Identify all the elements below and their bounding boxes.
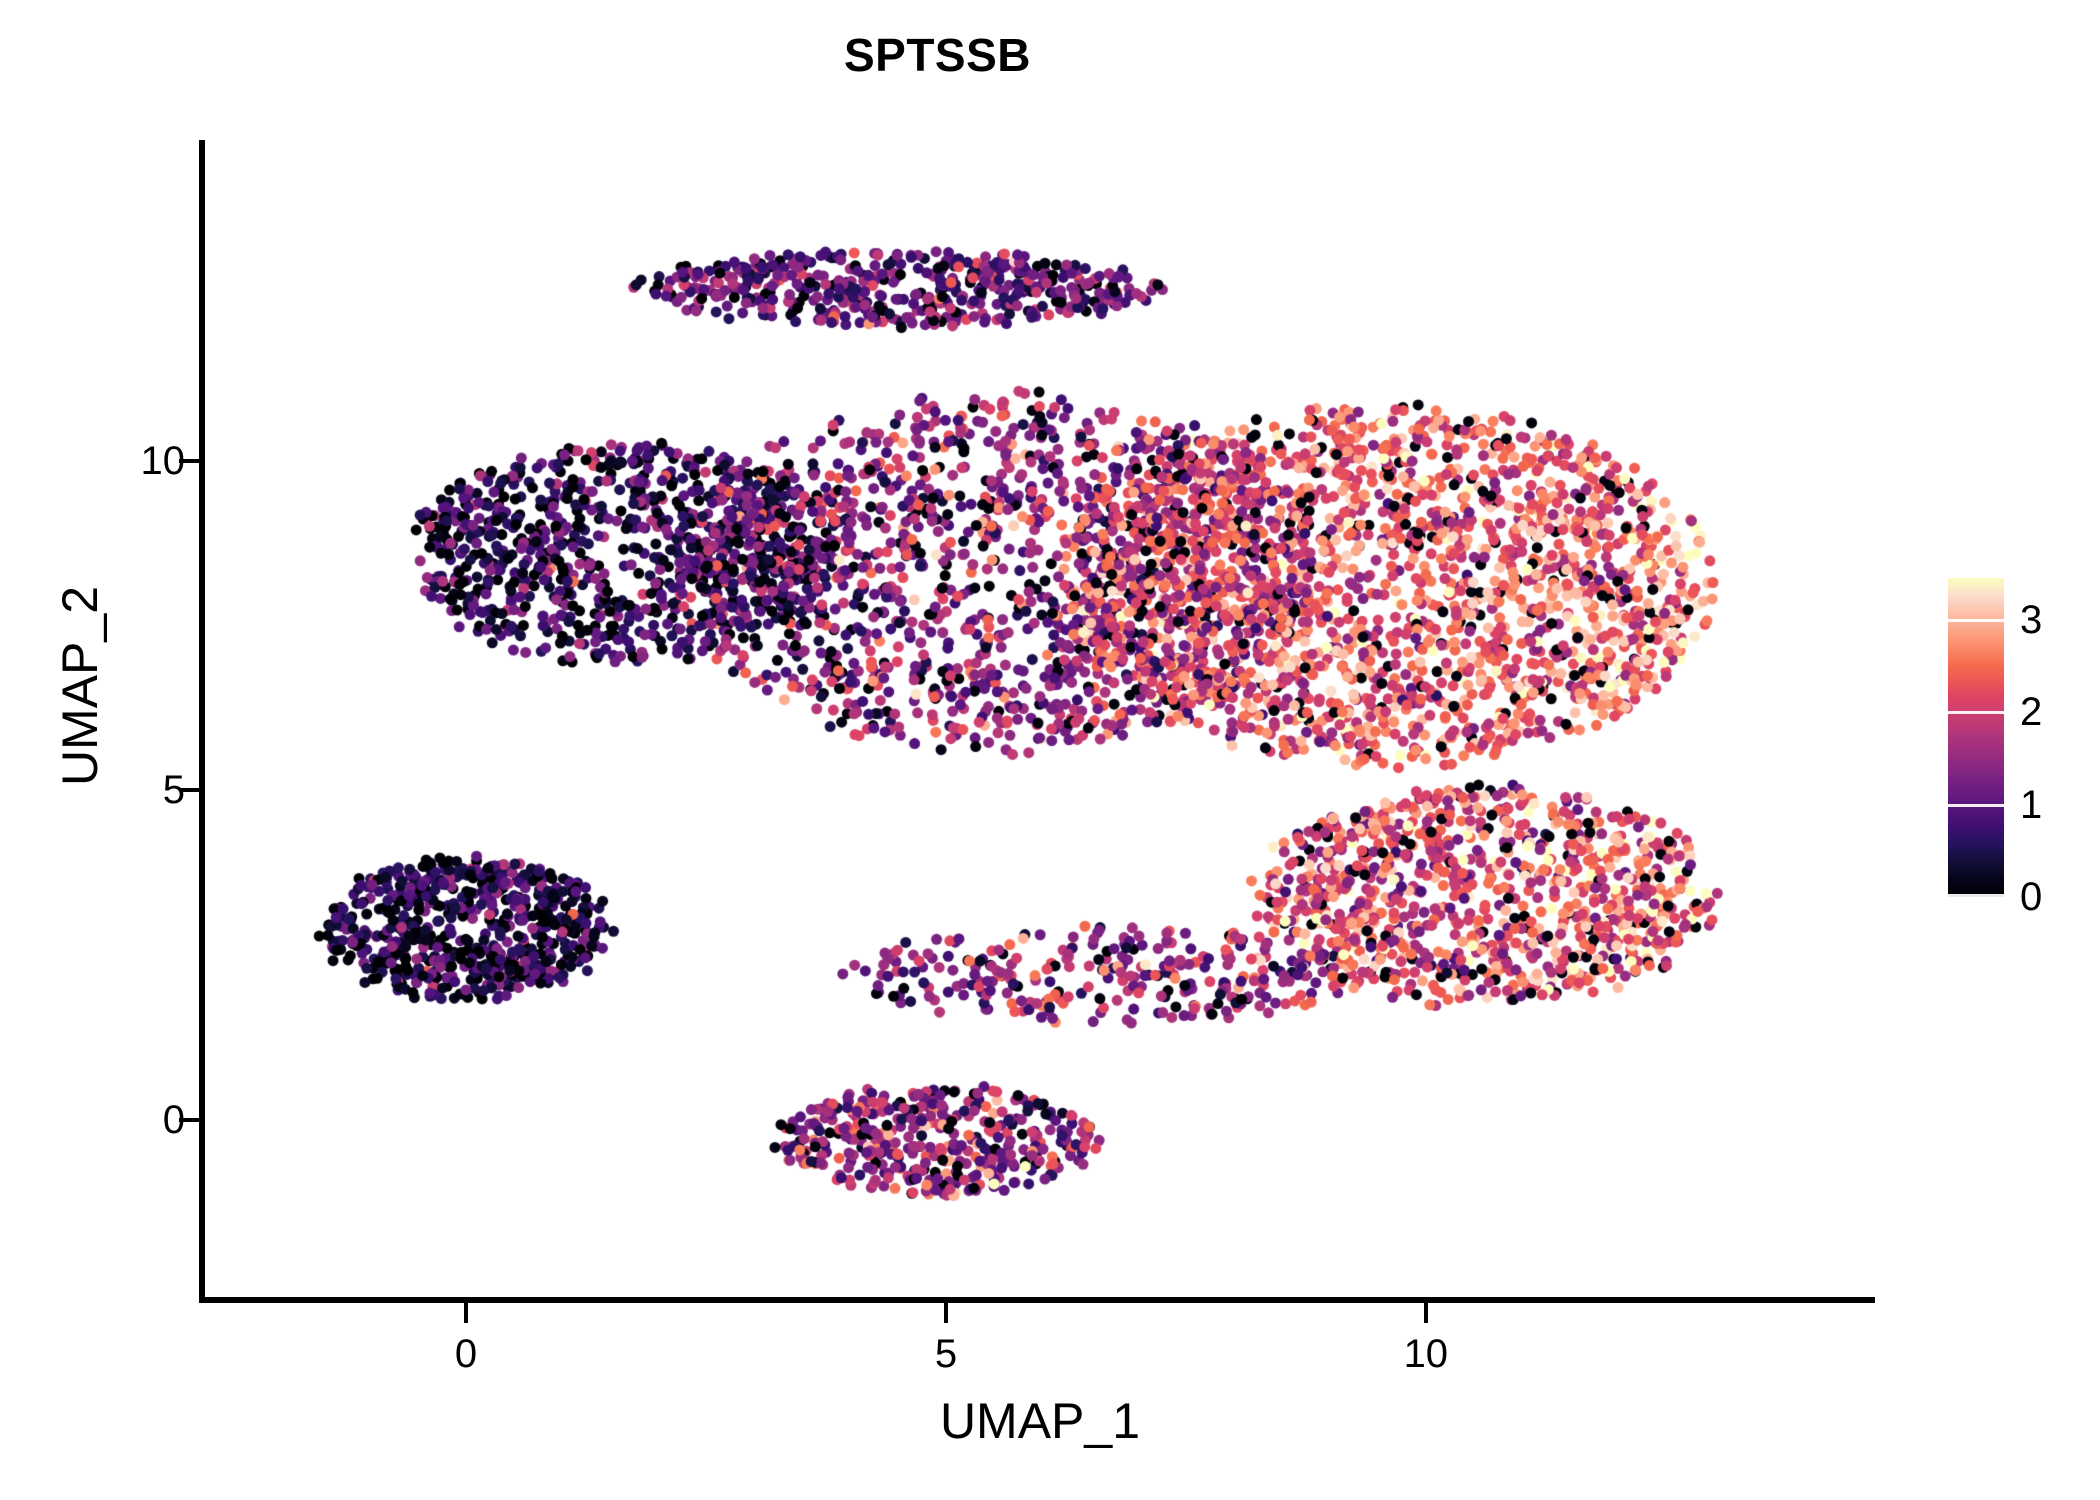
x-axis-line <box>199 1297 1875 1303</box>
page-title: SPTSSB <box>0 28 1875 82</box>
x-tick-label: 0 <box>406 1332 526 1376</box>
y-tick-label: 10 <box>141 441 186 481</box>
umap-feature-plot: SPTSSB 0510 0510 UMAP_1 UMAP_2 0123 <box>0 0 2100 1500</box>
x-tick-mark <box>944 1303 948 1323</box>
colorbar-tick-label: 2 <box>2020 692 2042 732</box>
y-axis-line <box>199 140 205 1303</box>
colorbar-tick-mark <box>1948 711 2004 714</box>
x-tick-mark <box>1424 1303 1428 1323</box>
colorbar-tick-label: 0 <box>2020 877 2042 917</box>
x-axis-title: UMAP_1 <box>205 1392 1875 1450</box>
x-tick-mark <box>464 1303 468 1323</box>
colorbar-tick-label: 1 <box>2020 785 2042 825</box>
y-tick-label: 5 <box>163 770 185 810</box>
colorbar-tick-label: 3 <box>2020 600 2042 640</box>
x-tick-label: 10 <box>1366 1332 1486 1376</box>
colorbar-tick-mark <box>1948 619 2004 622</box>
y-axis-title: UMAP_2 <box>51 366 109 1006</box>
colorbar-tick-mark <box>1948 804 2004 807</box>
colorbar-tick-mark <box>1948 894 2004 897</box>
scatter-points-canvas <box>205 142 1875 1301</box>
plot-panel <box>205 142 1875 1301</box>
y-tick-label: 0 <box>163 1100 185 1140</box>
colorbar-gradient <box>1948 578 2004 897</box>
x-tick-label: 5 <box>886 1332 1006 1376</box>
